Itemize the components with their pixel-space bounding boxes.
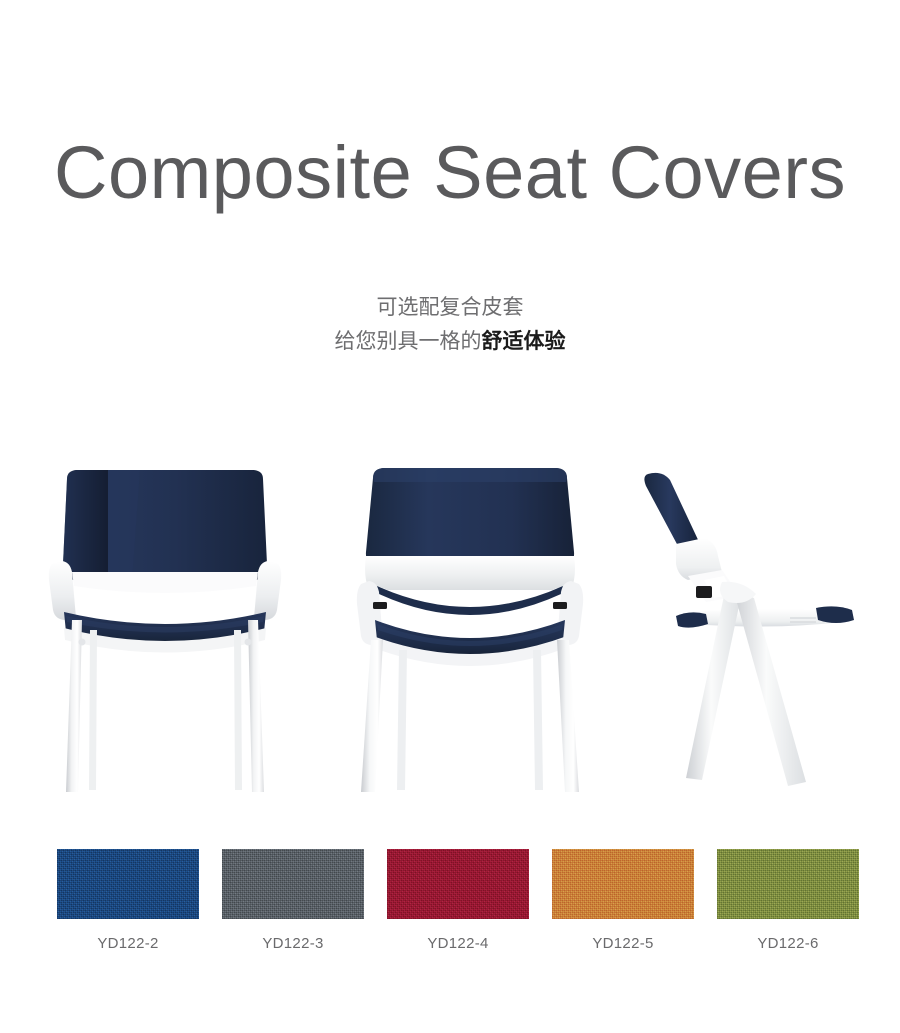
swatch-label-3: YD122-5	[541, 935, 705, 952]
seat-rear-navy	[676, 612, 708, 627]
subtitle-line-2-emphasis: 舒适体验	[482, 330, 566, 353]
seat-fitting-left	[79, 639, 86, 646]
grain-texture	[57, 849, 199, 919]
product-views-row	[0, 460, 900, 800]
swatch-label-0: YD122-2	[46, 935, 210, 952]
swatch-chip-3[interactable]	[552, 849, 694, 919]
swatch-chip-1[interactable]	[222, 849, 364, 919]
swatch-label-4: YD122-6	[706, 935, 870, 952]
page-title: Composite Seat Covers	[0, 131, 900, 215]
leg-rear-left	[397, 650, 407, 790]
seat-front-navy	[816, 606, 854, 623]
backrest-highlight	[63, 470, 140, 580]
swatch-label-1: YD122-3	[211, 935, 375, 952]
swatch-chip-2[interactable]	[387, 849, 529, 919]
back-support-band	[365, 556, 575, 590]
backrest-profile	[644, 473, 700, 551]
leg-front-right	[248, 620, 264, 792]
chair-front-view	[20, 460, 310, 800]
swatch-item-2[interactable]: YD122-4	[376, 849, 540, 952]
swatch-item-0[interactable]: YD122-2	[46, 849, 210, 952]
swatch-item-3[interactable]: YD122-5	[541, 849, 705, 952]
right-pivot-clip	[553, 602, 567, 609]
leg-front-left	[66, 620, 82, 792]
leg-rear-right	[234, 630, 242, 790]
grain-texture	[222, 849, 364, 919]
back-curved-rail	[377, 586, 563, 615]
back-support-band	[72, 572, 258, 593]
swatch-chip-4[interactable]	[717, 849, 859, 919]
seat-fitting-right	[245, 639, 252, 646]
leg-left	[361, 640, 383, 792]
chair-side-view	[630, 460, 900, 800]
fabric-swatch-row: YD122-2 YD122-3 YD122-4 YD122-5 YD122-6	[0, 849, 900, 969]
subtitle-block: 可选配复合皮套 给您别具一格的舒适体验	[0, 293, 900, 357]
leg-rear-left	[89, 630, 97, 790]
leg-rear-right	[533, 650, 543, 790]
grain-texture	[717, 849, 859, 919]
subtitle-line-1: 可选配复合皮套	[377, 296, 524, 319]
grain-texture	[552, 849, 694, 919]
left-pivot-clip	[373, 602, 387, 609]
backrest-top-highlight	[373, 468, 567, 482]
subtitle-line-2: 给您别具一格的舒适体验	[0, 327, 900, 357]
pivot-clip	[696, 586, 712, 598]
leg-right	[557, 640, 579, 792]
backrest-shell	[366, 468, 574, 566]
swatch-item-1[interactable]: YD122-3	[211, 849, 375, 952]
swatch-label-2: YD122-4	[376, 935, 540, 952]
subtitle-line-2-normal: 给您别具一格的	[335, 330, 482, 353]
chair-back-view	[325, 460, 615, 800]
swatch-chip-0[interactable]	[57, 849, 199, 919]
grain-texture	[387, 849, 529, 919]
swatch-item-4[interactable]: YD122-6	[706, 849, 870, 952]
